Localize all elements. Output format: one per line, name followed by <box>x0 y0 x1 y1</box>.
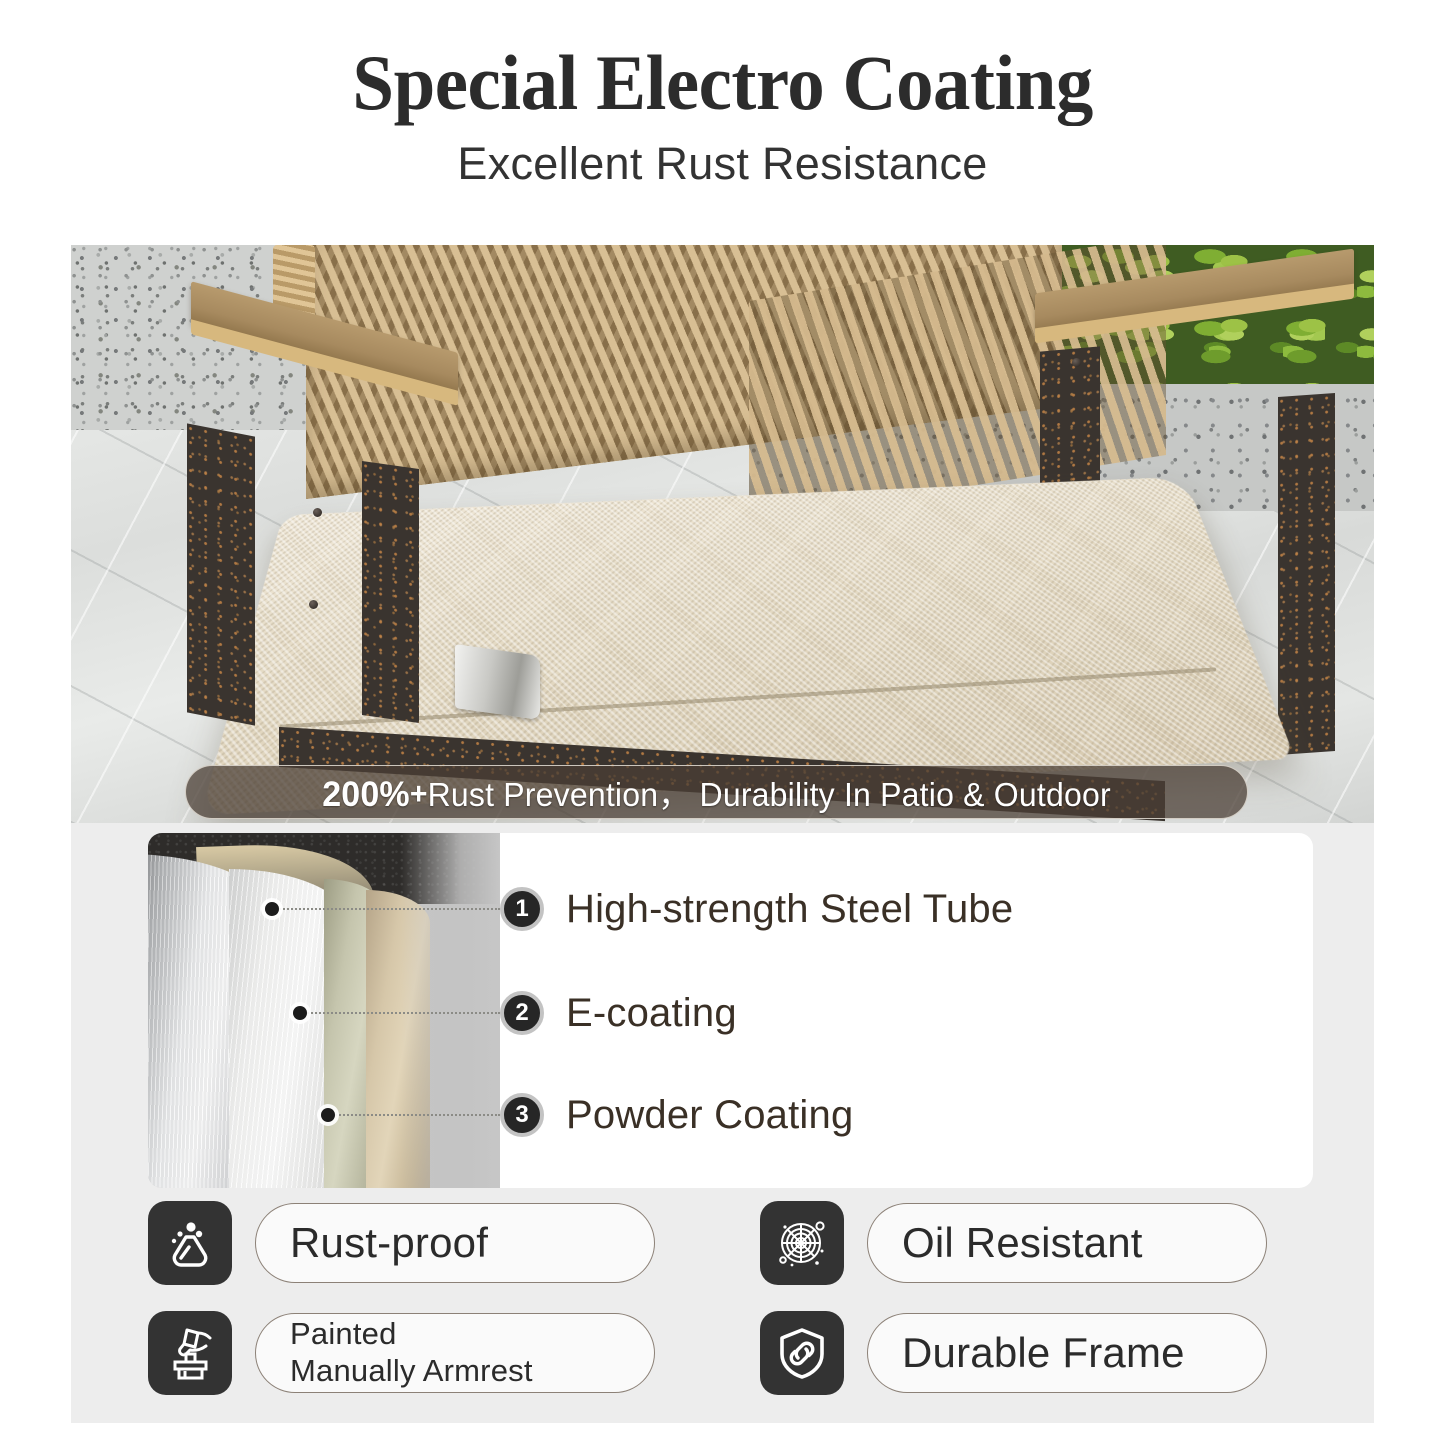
feature-pill-durable-frame: Durable Frame <box>867 1313 1267 1393</box>
banner-percent: 200% <box>322 775 410 814</box>
frame-screw <box>1072 358 1081 367</box>
callout-label-3: Powder Coating <box>566 1093 853 1138</box>
leader-line-2 <box>300 1012 500 1016</box>
banner-message: Rust Prevention， Durability In Patio & O… <box>428 776 1111 813</box>
patio-chair-scene <box>71 245 1374 823</box>
leader-dot-3 <box>321 1108 335 1122</box>
callout-list: 1 High-strength Steel Tube 2 E-coating 3… <box>500 833 1313 1188</box>
shield-chain-icon <box>760 1311 844 1395</box>
feature-pill-rust-proof: Rust-proof <box>255 1203 655 1283</box>
callout-badge-2: 2 <box>500 991 544 1035</box>
metal-bracket <box>455 644 540 719</box>
callout-badge-3: 3 <box>500 1093 544 1137</box>
callout-item-1: 1 High-strength Steel Tube <box>500 881 1013 937</box>
leader-line-3 <box>328 1114 500 1118</box>
chair-frame-right-outer-leg <box>1278 393 1335 755</box>
rust-prevention-banner: 200%+Rust Prevention， Durability In Pati… <box>185 765 1248 819</box>
feature-label-oil-resistant: Oil Resistant <box>902 1219 1143 1267</box>
feature-painted-manually: Painted Manually Armrest <box>148 1311 655 1395</box>
feature-grid: Rust-proof Painted Manually Armrest <box>148 1201 1348 1413</box>
feature-label-rust-proof: Rust-proof <box>290 1219 488 1267</box>
leader-dot-2 <box>293 1006 307 1020</box>
page-subtitle: Excellent Rust Resistance <box>457 138 987 190</box>
lower-panel: 1 High-strength Steel Tube 2 E-coating 3… <box>71 823 1374 1423</box>
callout-label-1: High-strength Steel Tube <box>566 887 1013 932</box>
leader-line-1 <box>272 908 500 912</box>
banner-text: 200%+Rust Prevention， Durability In Pati… <box>322 768 1111 816</box>
oil-repel-web-icon <box>760 1201 844 1285</box>
chair-frame-left-leg <box>362 461 419 723</box>
cross-section-right-shade <box>401 833 500 1188</box>
feature-label-painted-manually: Painted Manually Armrest <box>290 1316 533 1389</box>
callout-label-2: E-coating <box>566 991 737 1036</box>
callout-item-3: 3 Powder Coating <box>500 1087 853 1143</box>
callout-item-2: 2 E-coating <box>500 985 737 1041</box>
feature-pill-oil-resistant: Oil Resistant <box>867 1203 1267 1283</box>
coating-cross-section-image <box>148 833 500 1188</box>
page-header: Special Electro Coating Excellent Rust R… <box>0 0 1445 225</box>
hero-product-photo <box>71 245 1374 823</box>
feature-durable-frame: Durable Frame <box>760 1311 1267 1395</box>
page-title: Special Electro Coating <box>352 44 1092 122</box>
feature-oil-resistant: Oil Resistant <box>760 1201 1267 1285</box>
paint-brush-bucket-icon <box>148 1311 232 1395</box>
banner-superscript: + <box>410 776 428 811</box>
feature-rust-proof: Rust-proof <box>148 1201 655 1285</box>
flask-bubbles-icon <box>148 1201 232 1285</box>
chair-frame-left-post <box>187 423 255 725</box>
feature-pill-painted-manually: Painted Manually Armrest <box>255 1313 655 1393</box>
coating-diagram-card: 1 High-strength Steel Tube 2 E-coating 3… <box>148 833 1313 1188</box>
leader-dot-1 <box>265 902 279 916</box>
feature-label-durable-frame: Durable Frame <box>902 1329 1185 1377</box>
callout-badge-1: 1 <box>500 887 544 931</box>
